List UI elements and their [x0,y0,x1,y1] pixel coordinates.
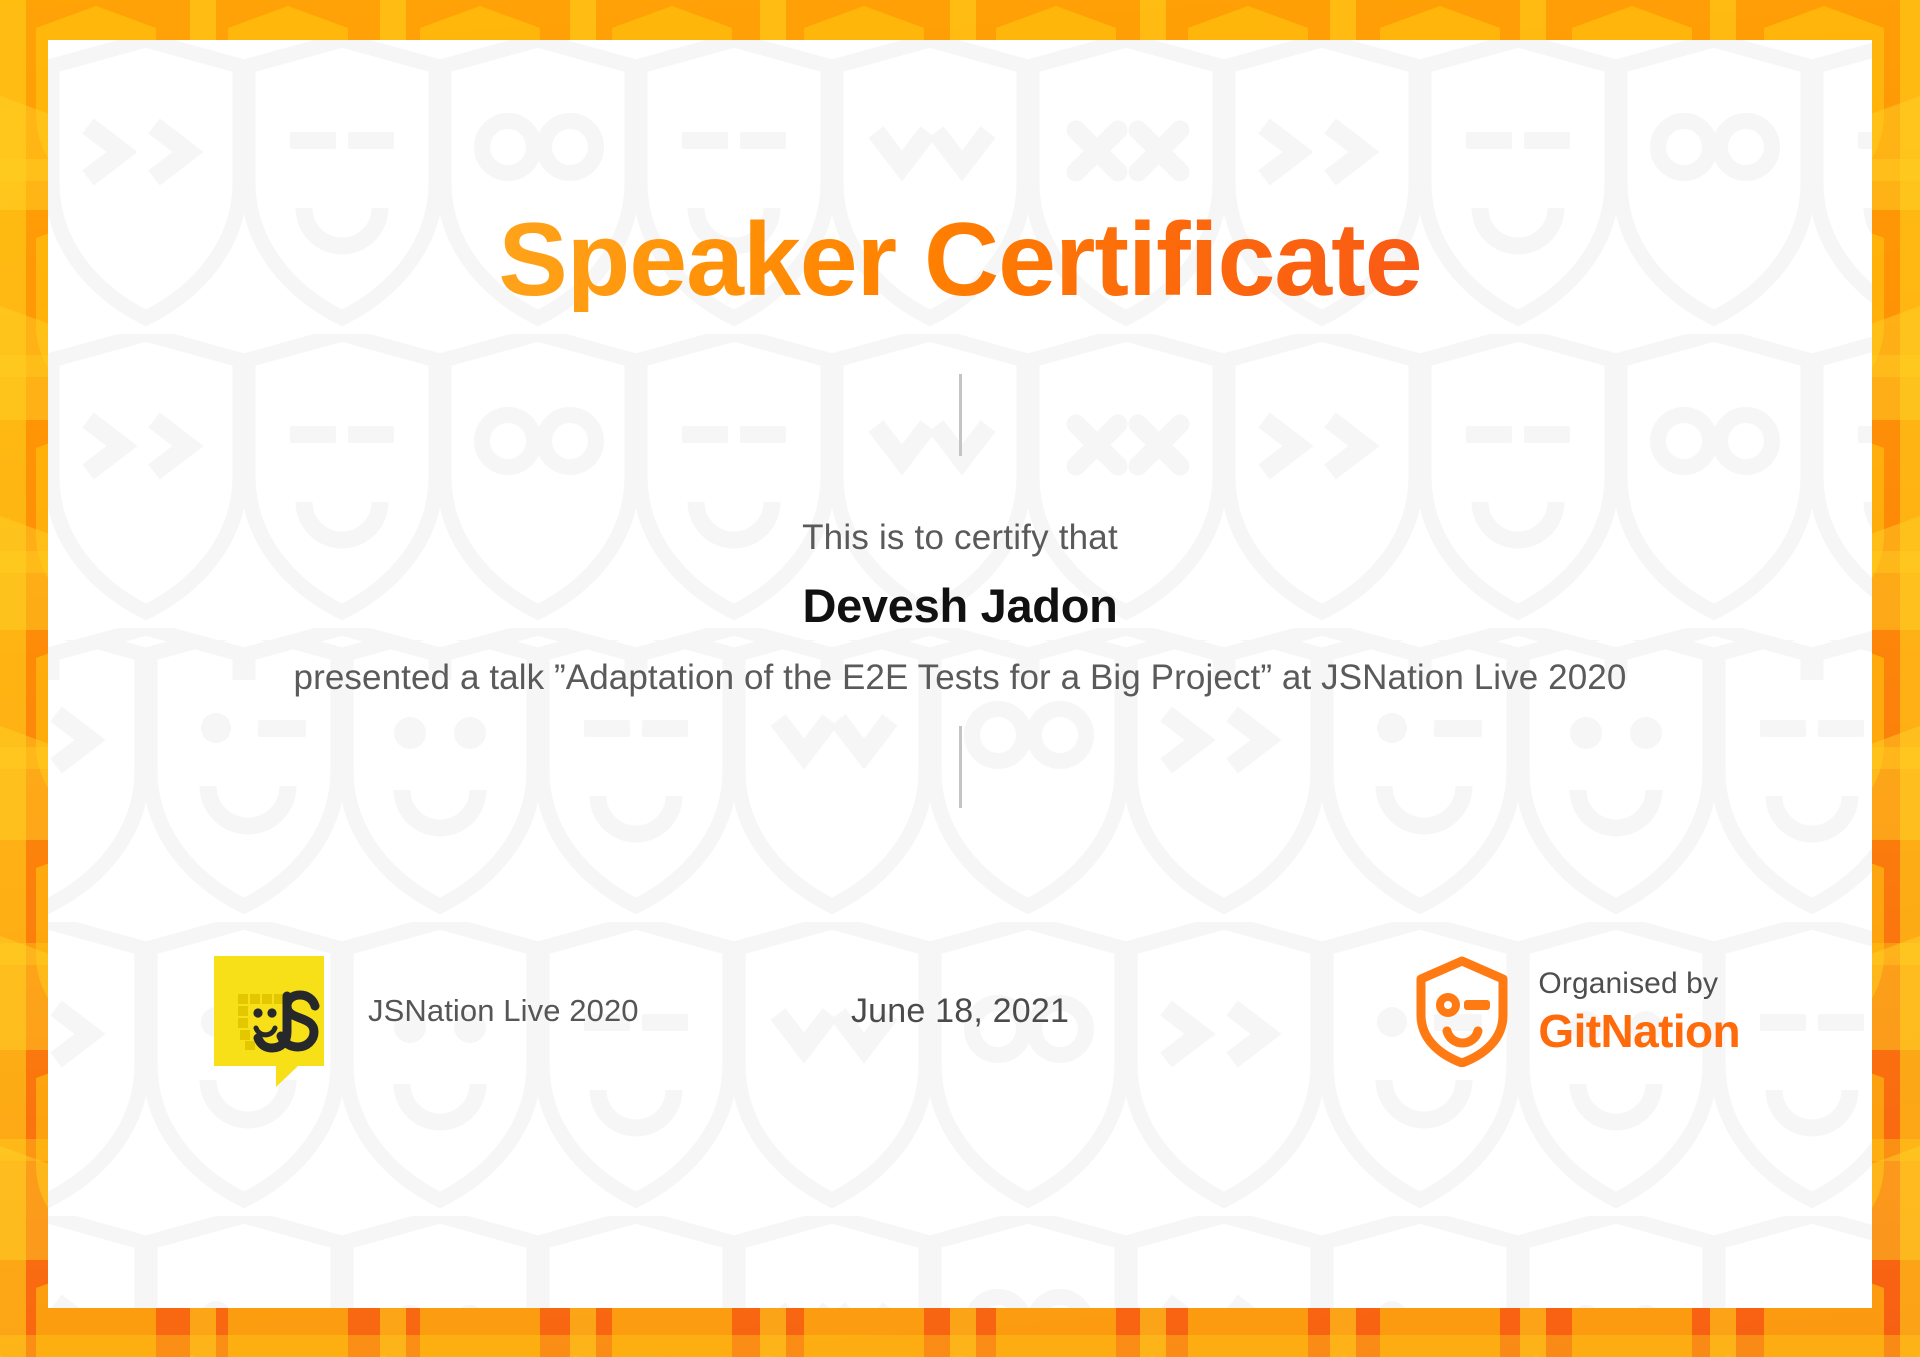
talk-description: presented a talk ”Adaptation of the E2E … [210,657,1710,698]
card-content: Speaker Certificate This is to certify t… [48,40,1872,1308]
certify-line: This is to certify that [802,518,1118,558]
gitnation-text: Organised by GitNation [1538,969,1740,1054]
divider-bottom [959,726,962,808]
js-logo-tail [276,1066,298,1087]
certificate-card: Speaker Certificate This is to certify t… [48,40,1872,1308]
divider-top [959,374,962,456]
organised-by-label: Organised by [1538,969,1740,999]
certificate-footer: JSNation Live 2020 June 18, 2021 Organis… [48,936,1872,1086]
organiser-name: GitNation [1538,1008,1740,1054]
recipient-name: Devesh Jadon [802,578,1117,633]
certificate: Speaker Certificate This is to certify t… [0,0,1920,1357]
gitnation-shield-icon [1414,955,1510,1067]
footer-organiser-block: Organised by GitNation [1414,955,1740,1067]
page-title: Speaker Certificate [498,208,1421,312]
